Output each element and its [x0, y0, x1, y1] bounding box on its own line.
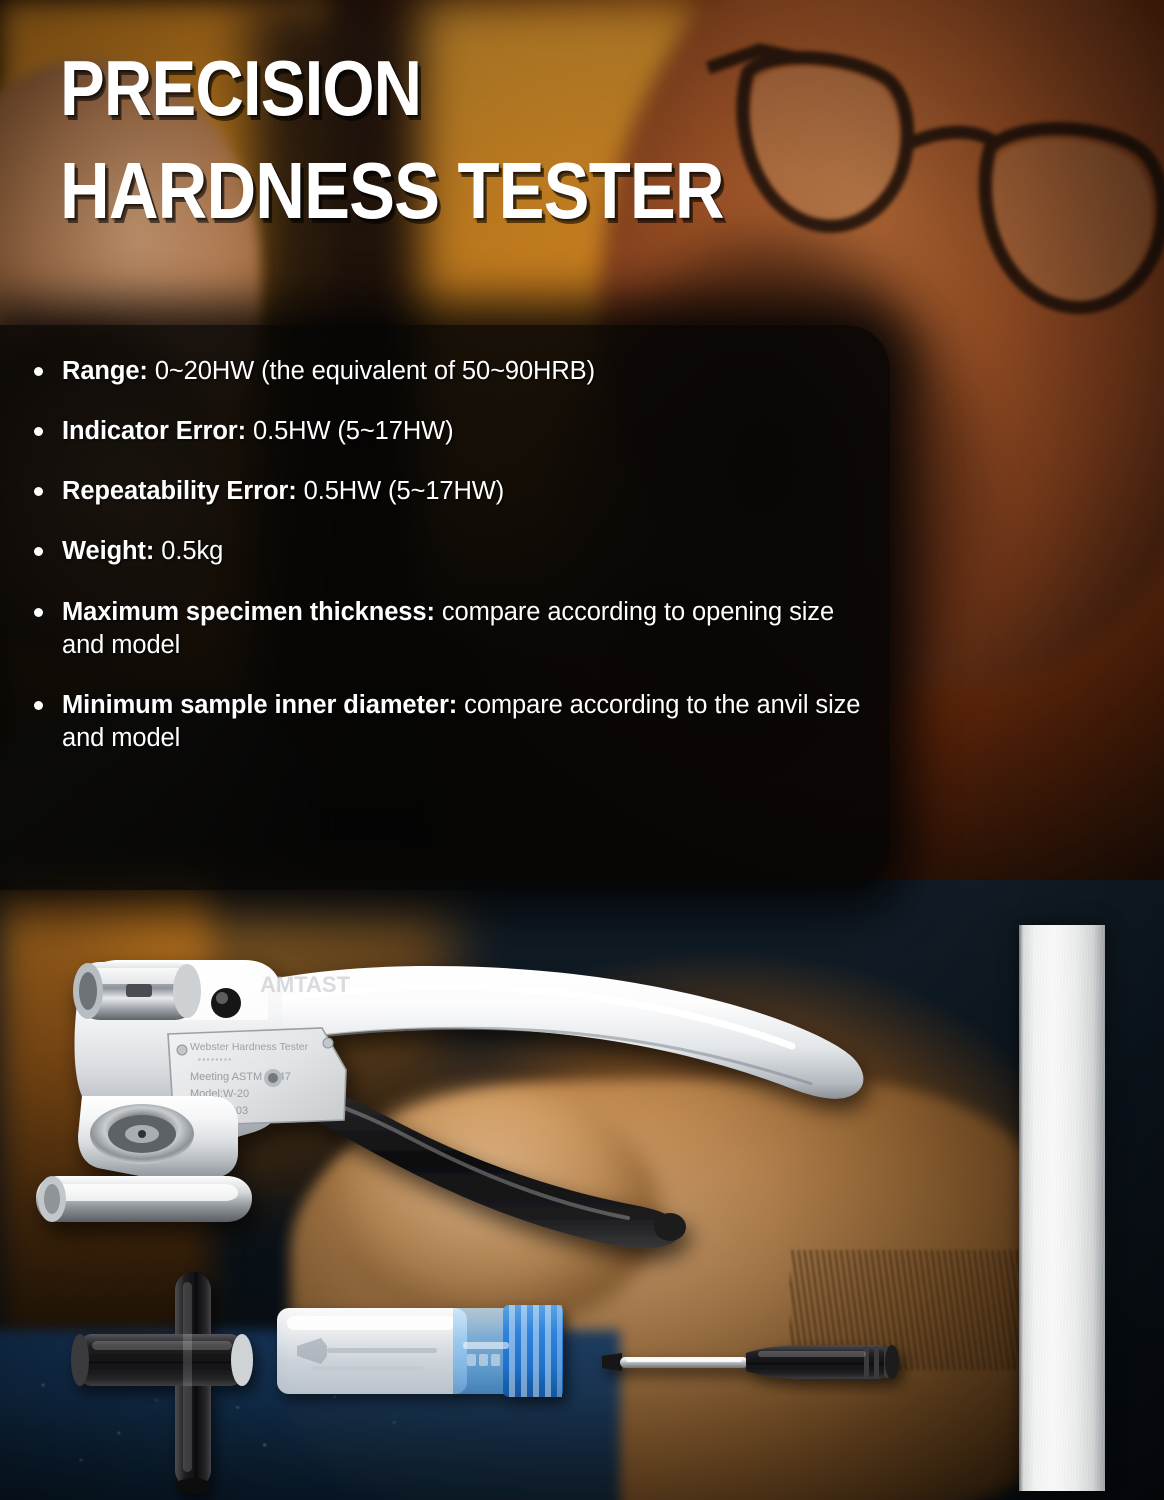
list-item: Indicator Error: 0.5HW (5~17HW): [0, 415, 890, 448]
list-item: Range: 0~20HW (the equivalent of 50~90HR…: [0, 355, 890, 388]
bullet-icon: [34, 547, 43, 556]
bullet-icon: [34, 487, 43, 496]
list-item: Repeatability Error: 0.5HW (5~17HW): [0, 475, 890, 508]
product-poster: PRECISION HARDNESS TESTER Range: 0~20HW …: [0, 0, 1164, 1500]
list-item: Maximum specimen thickness: compare acco…: [0, 596, 890, 662]
vial-cap: [503, 1305, 563, 1397]
screwdriver-handle: [746, 1345, 892, 1379]
bullet-icon: [34, 701, 43, 710]
headline-line-2: HARDNESS TESTER: [60, 150, 724, 232]
spec-value: 0.5HW (5~17HW): [246, 417, 454, 445]
webster-hardness-tester: Webster Hardness Tester ▪▪▪▪▪▪▪▪ Meeting…: [30, 900, 910, 1300]
nameplate-line-1: Webster Hardness Tester: [190, 1041, 309, 1053]
vial-mid: [453, 1308, 509, 1394]
spec-value: 0.5kg: [154, 537, 223, 565]
bullet-icon: [34, 367, 43, 376]
tester-base-bar: [36, 1176, 252, 1222]
spec-label: Indicator Error:: [62, 417, 246, 445]
headline-line-1: PRECISION: [60, 48, 724, 128]
screwdriver-tip: [602, 1353, 622, 1371]
spec-label: Range:: [62, 357, 148, 385]
specifications-list: Range: 0~20HW (the equivalent of 50~90HR…: [0, 355, 890, 755]
tester-gauge-dial: [73, 962, 201, 1020]
tester-button: [211, 988, 241, 1018]
calibration-test-strip: [1019, 925, 1105, 1491]
nameplate-dashes: ▪▪▪▪▪▪▪▪: [198, 1055, 233, 1064]
t-handle-wrench: [70, 1270, 300, 1500]
list-item: Minimum sample inner diameter: compare a…: [0, 689, 890, 755]
list-item: Weight: 0.5kg: [0, 535, 890, 568]
precision-screwdriver: [600, 1330, 940, 1400]
spec-value: 0.5HW (5~17HW): [297, 477, 505, 505]
bullet-icon: [34, 608, 43, 617]
specifications-panel: Range: 0~20HW (the equivalent of 50~90HR…: [0, 325, 890, 890]
spare-indenter-vial: [275, 1288, 585, 1413]
spec-label: Minimum sample inner diameter:: [62, 691, 457, 719]
spec-label: Weight:: [62, 537, 154, 565]
bullet-icon: [34, 427, 43, 436]
headline: PRECISION HARDNESS TESTER: [60, 48, 832, 233]
spec-label: Repeatability Error:: [62, 477, 297, 505]
spec-value: 0~20HW (the equivalent of 50~90HRB): [148, 357, 595, 385]
spec-label: Maximum specimen thickness:: [62, 598, 435, 626]
tester-brand-emboss: AMTAST: [260, 972, 351, 997]
